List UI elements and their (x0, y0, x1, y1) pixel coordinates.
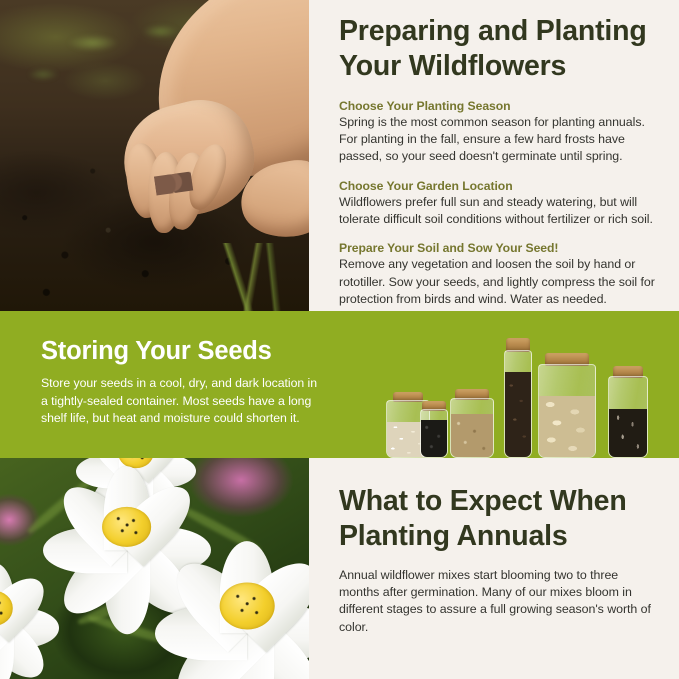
seed-contents (609, 409, 647, 457)
glass-jar (420, 409, 448, 458)
white-cosmos-flowers-photo (0, 458, 309, 679)
section-preparing-and-planting: Preparing and Planting Your Wildflowers … (0, 0, 679, 311)
storing-body: Store your seeds in a cool, dry, and dar… (41, 375, 323, 427)
page-title: Preparing and Planting Your Wildflowers (339, 14, 661, 84)
subheading-prepare-soil: Prepare Your Soil and Sow Your Seed! (339, 241, 661, 255)
seed-contents (451, 414, 493, 457)
grass-blades (170, 243, 309, 311)
body-planting-season: Spring is the most common season for pla… (339, 114, 661, 166)
expect-title: What to Expect When Planting Annuals (339, 484, 661, 554)
hand-sowing-seeds-in-soil-photo (0, 0, 309, 311)
jar-sunflower-seeds (608, 366, 648, 458)
glass-jar (538, 364, 596, 458)
glass-jar (608, 376, 648, 458)
jar-pumpkin-seeds (538, 352, 596, 458)
seed-contents (421, 420, 447, 457)
jar-black-seeds (420, 400, 448, 458)
glass-jar (504, 350, 532, 458)
jar-tall-dark-seeds (504, 338, 532, 458)
seed-contents (505, 372, 531, 457)
planting-block: Choose Your Planting Season Spring is th… (339, 99, 661, 166)
jar-tan-grain (450, 386, 494, 458)
storing-title: Storing Your Seeds (41, 337, 323, 365)
flower-center (220, 583, 275, 630)
planting-copy: Preparing and Planting Your Wildflowers … (339, 14, 661, 308)
infographic-page: Preparing and Planting Your Wildflowers … (0, 0, 679, 679)
section-what-to-expect: What to Expect When Planting Annuals Ann… (0, 458, 679, 679)
body-garden-location: Wildflowers prefer full sun and steady w… (339, 194, 661, 229)
seed-contents (539, 396, 595, 457)
expect-copy: What to Expect When Planting Annuals Ann… (339, 484, 661, 636)
flower-center (102, 506, 152, 546)
planting-block: Prepare Your Soil and Sow Your Seed! Rem… (339, 241, 661, 308)
glass-jar (450, 398, 494, 458)
subheading-planting-season: Choose Your Planting Season (339, 99, 661, 113)
seed-storage-jars-photo (386, 331, 658, 458)
subheading-garden-location: Choose Your Garden Location (339, 179, 661, 193)
storing-copy: Storing Your Seeds Store your seeds in a… (41, 337, 323, 427)
planting-block: Choose Your Garden Location Wildflowers … (339, 179, 661, 229)
expect-body: Annual wildflower mixes start blooming t… (339, 567, 661, 636)
body-prepare-soil: Remove any vegetation and loosen the soi… (339, 256, 661, 308)
